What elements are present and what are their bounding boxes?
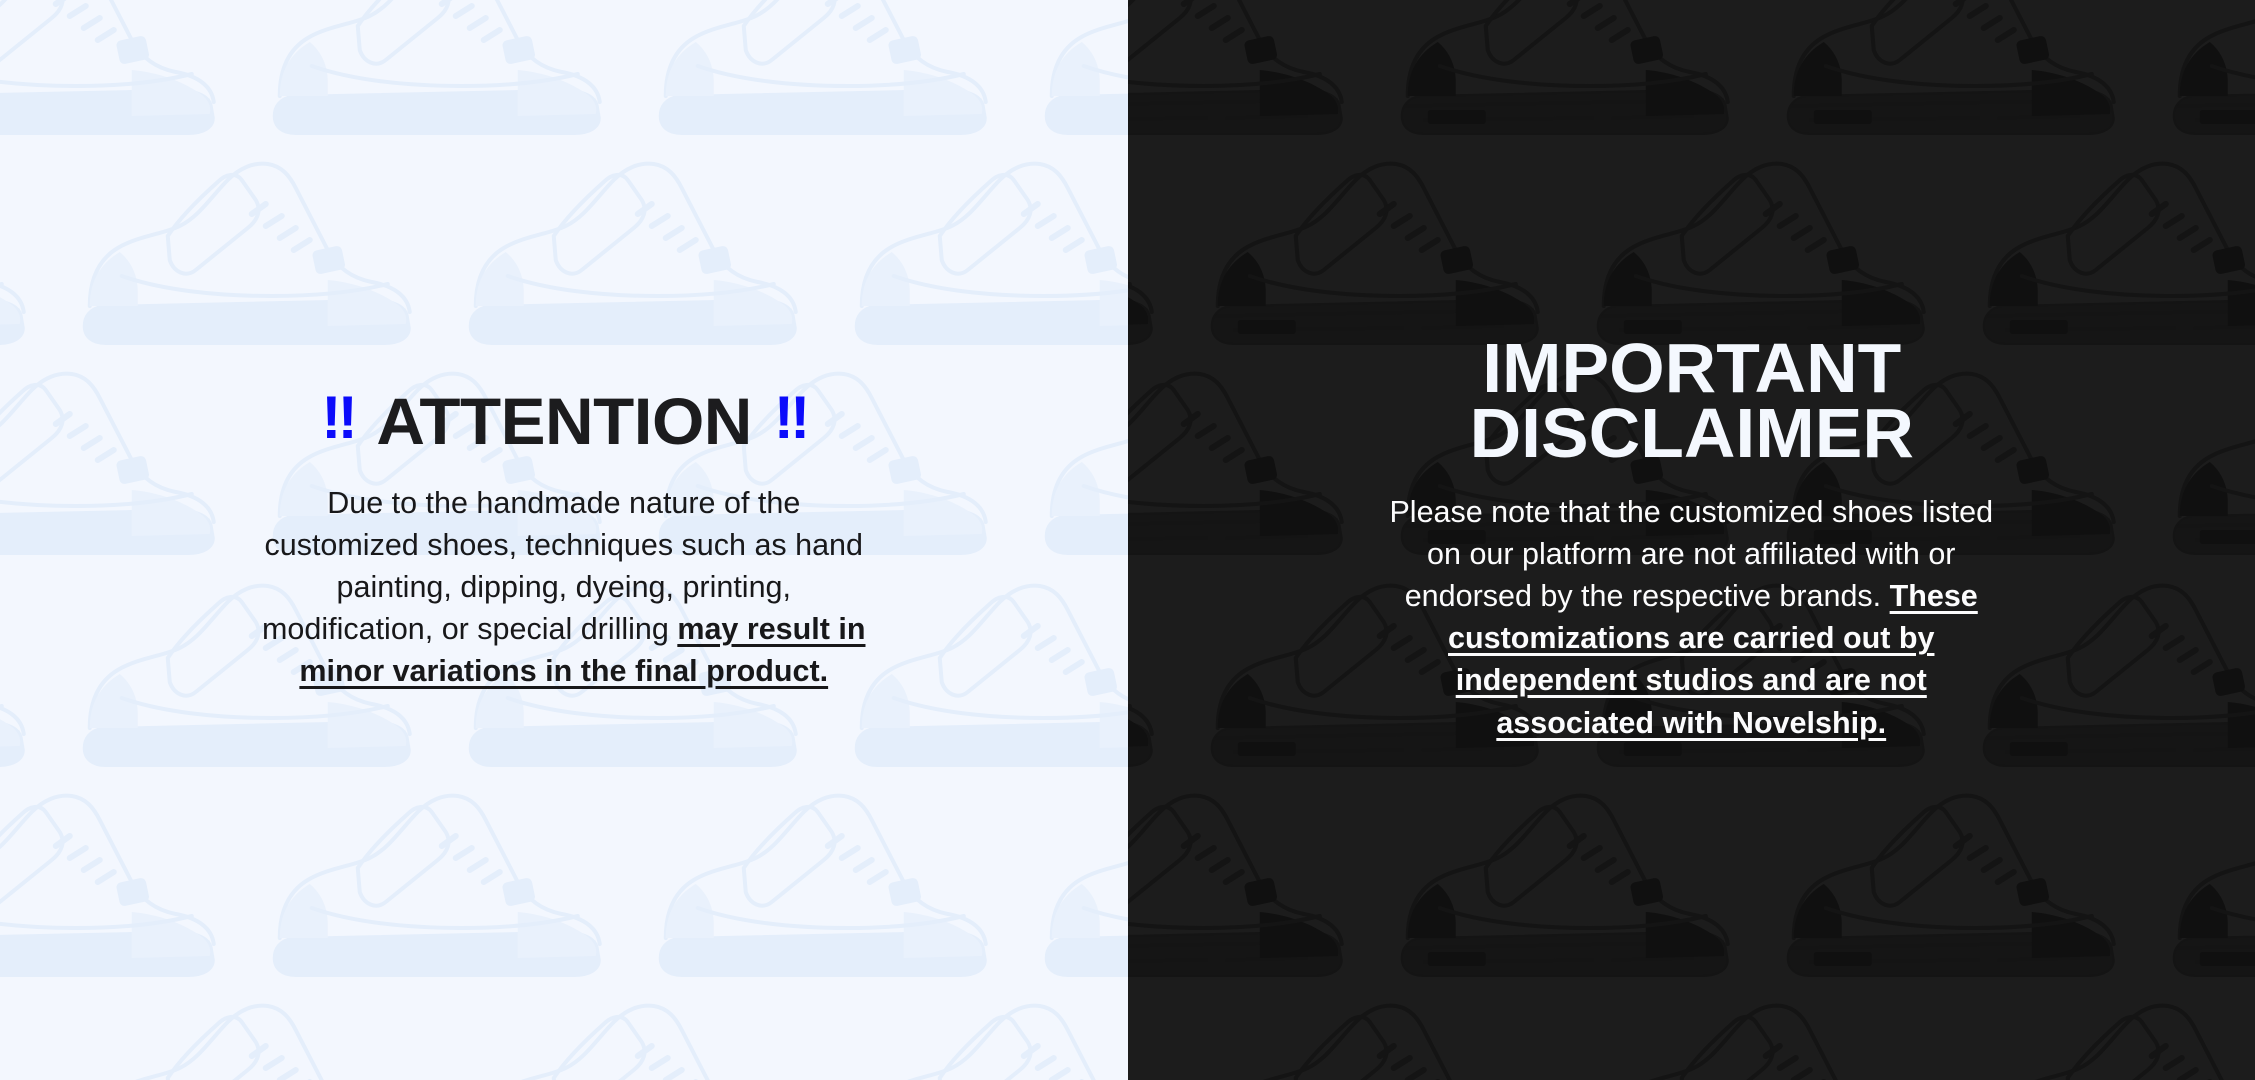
double-exclamation-right-icon: ‼ [774,388,806,448]
attention-panel: ‼ ATTENTION ‼ Due to the handmade nature… [0,0,1128,1080]
disclaimer-heading: IMPORTANT DISCLAIMER [1157,336,2225,465]
attention-heading: ‼ ATTENTION ‼ [40,388,1088,454]
customization-notice-banner: ‼ ATTENTION ‼ Due to the handmade nature… [0,0,2255,1080]
attention-content: ‼ ATTENTION ‼ Due to the handmade nature… [0,388,1128,692]
disclaimer-body: Please note that the customized shoes li… [1381,491,2001,743]
disclaimer-heading-line2: DISCLAIMER [1157,401,2225,465]
attention-body: Due to the handmade nature of the custom… [254,482,874,692]
disclaimer-panel: IMPORTANT DISCLAIMER Please note that th… [1128,0,2255,1080]
double-exclamation-left-icon: ‼ [321,388,353,448]
disclaimer-content: IMPORTANT DISCLAIMER Please note that th… [1128,336,2255,743]
attention-heading-text: ATTENTION [376,388,752,454]
